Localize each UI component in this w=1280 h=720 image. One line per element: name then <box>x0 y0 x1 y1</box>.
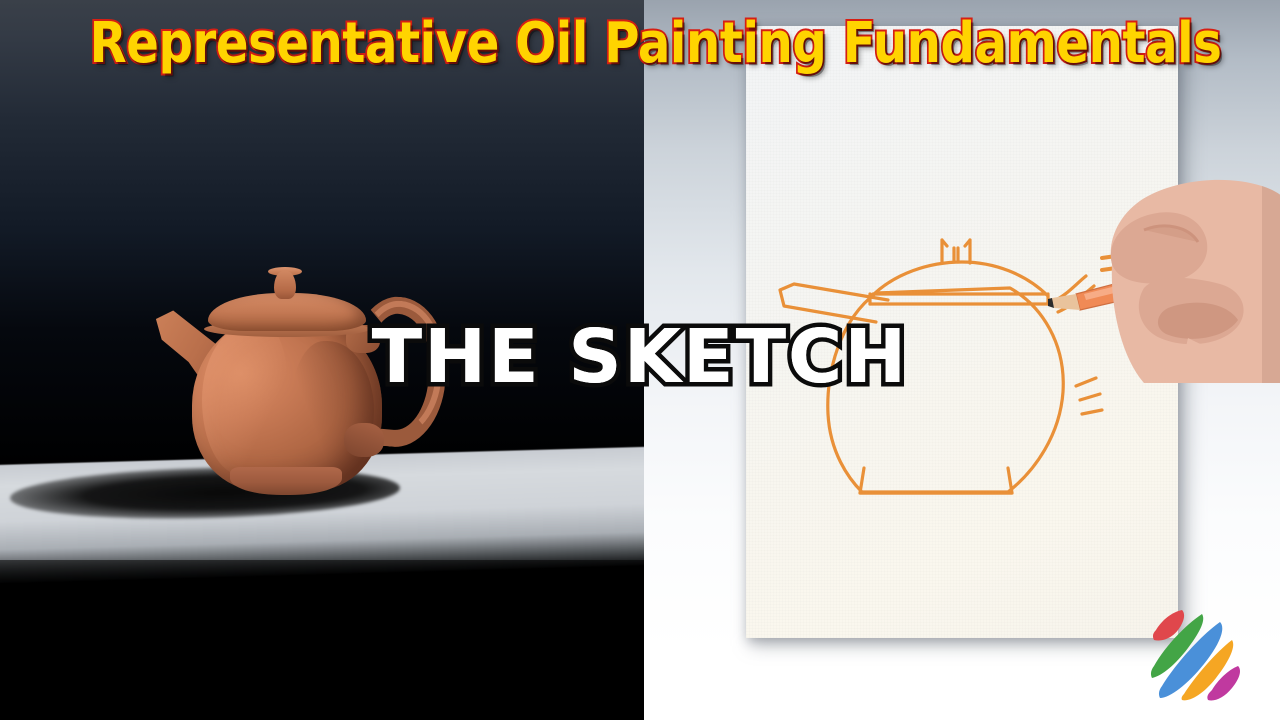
pencil-wood-cone <box>1052 294 1080 310</box>
teapot-3d-render <box>160 255 470 505</box>
teapot-lid-knob <box>274 271 296 299</box>
sketch-base-outline <box>860 468 1012 493</box>
teapot-body-highlight <box>202 325 288 475</box>
hand-with-pencil <box>1048 168 1280 383</box>
teapot-body-shadow <box>290 341 374 481</box>
paint-strokes-logo[interactable] <box>1140 600 1252 702</box>
sketch-construction-ticks <box>1076 378 1102 414</box>
hand <box>1111 180 1280 383</box>
video-frame: Representative Oil Painting Fundamentals… <box>0 0 1280 720</box>
hand-outer-shade <box>1262 186 1280 383</box>
table-front-shadow <box>0 560 644 720</box>
reference-photo-panel <box>0 0 644 720</box>
sketch-knob-stem <box>954 248 958 262</box>
sketch-knob-outline <box>942 240 970 263</box>
teapot-base <box>230 467 342 495</box>
teapot-handle-lower-joint <box>344 423 384 457</box>
